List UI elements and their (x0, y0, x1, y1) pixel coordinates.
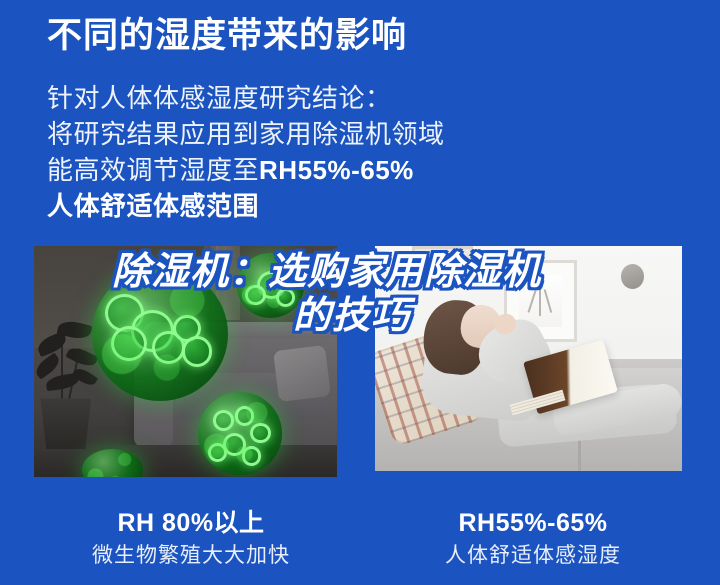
intro-line-3-highlight: RH55%-65% (259, 155, 414, 185)
microbe-cell (242, 446, 262, 465)
microbe-cell (250, 423, 270, 443)
caption-left-sub: 微生物繁殖大大加快 (46, 542, 336, 570)
microbe-cell (223, 433, 246, 456)
plant-pot (37, 398, 95, 449)
dark-floor (34, 445, 337, 477)
intro-line-4: 人体舒适体感范围 (47, 188, 445, 224)
microbe-cluster-corner (82, 449, 143, 477)
caption-left-head: RH 80%以上 (46, 508, 336, 538)
microbe-cell (182, 336, 213, 366)
intro-line-3: 能高效调节湿度至RH55%-65% (47, 152, 445, 188)
plant-stem (61, 338, 63, 403)
microbe-cell (235, 406, 255, 425)
intro-line-3-prefix: 能高效调节湿度至 (47, 155, 259, 185)
microbe-cluster-bottom (198, 392, 283, 475)
microbe-cell (208, 443, 227, 461)
caption-right-head: RH55%-65% (388, 508, 678, 538)
caption-high-humidity: RH 80%以上 微生物繁殖大大加快 (46, 508, 336, 570)
caption-right-sub: 人体舒适体感湿度 (388, 542, 678, 570)
page-title: 不同的湿度带来的影响 (47, 17, 407, 56)
intro-line-1: 针对人体体感湿度研究结论： (47, 80, 445, 116)
poster-root: 不同的湿度带来的影响 针对人体体感湿度研究结论： 将研究结果应用到家用除湿机领域… (0, 0, 720, 585)
overlay-title: 除湿机：选购家用除湿机 的技巧 (112, 250, 652, 338)
intro-line-2: 将研究结果应用到家用除湿机领域 (47, 116, 445, 152)
overlay-title-line-1: 除湿机：选购家用除湿机 (112, 251, 541, 293)
intro-paragraph: 针对人体体感湿度研究结论： 将研究结果应用到家用除湿机领域 能高效调节湿度至RH… (47, 80, 445, 224)
overlay-title-line-2: 的技巧 (293, 294, 652, 338)
microbe-cell (213, 410, 234, 431)
caption-comfort-humidity: RH55%-65% 人体舒适体感湿度 (388, 508, 678, 570)
